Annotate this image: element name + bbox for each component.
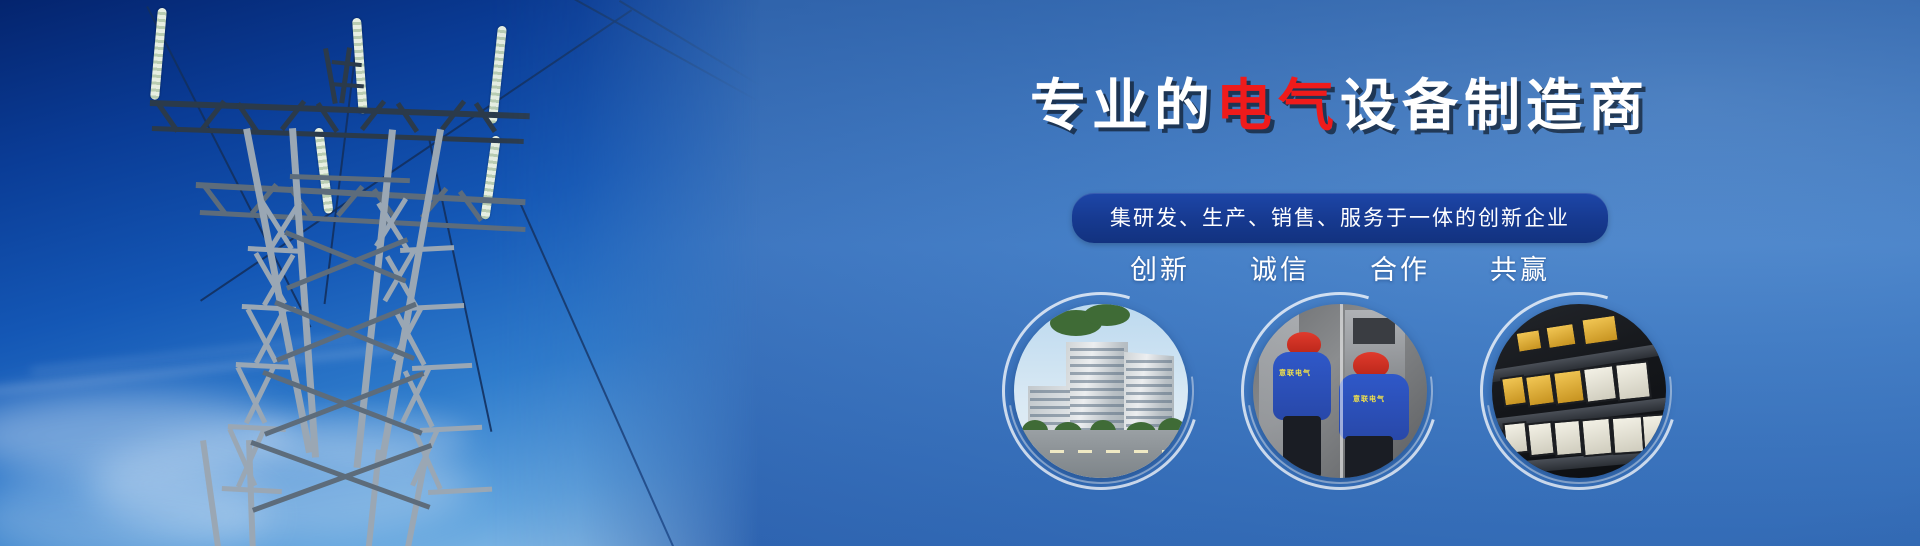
office-building-image: [1014, 304, 1188, 478]
page-title: 专业的电气设备制造商: [760, 78, 1920, 134]
technicians-image: 意联电气 意联电气: [1253, 304, 1427, 478]
photo-circle-technicians[interactable]: 意联电气 意联电气: [1253, 304, 1427, 478]
transmission-tower-photo: [0, 0, 760, 546]
photo-circle-list: 意联电气 意联电气: [760, 304, 1920, 478]
keyword-item-3: 合作: [1370, 248, 1430, 287]
photo-circle-office-building[interactable]: [1014, 304, 1188, 478]
keyword-item-1: 创新: [1130, 248, 1190, 287]
headline-prefix: 专业的: [1030, 74, 1216, 137]
certificate-wall-image: [1492, 304, 1666, 478]
promo-banner: 专业的电气设备制造商 集研发、生产、销售、服务于一体的创新企业 创新 诚信 合作…: [0, 0, 1920, 546]
pylon-structure: [0, 0, 760, 546]
banner-content: 专业的电气设备制造商 集研发、生产、销售、服务于一体的创新企业 创新 诚信 合作…: [760, 0, 1920, 546]
headline-suffix: 设备制造商: [1340, 74, 1650, 137]
keyword-item-2: 诚信: [1250, 248, 1310, 287]
keyword-list: 创新 诚信 合作 共赢: [760, 248, 1920, 287]
photo-circle-certificates[interactable]: [1492, 304, 1666, 478]
headline-highlight: 电气: [1216, 74, 1340, 137]
subtitle-badge: 集研发、生产、销售、服务于一体的创新企业: [1072, 193, 1608, 243]
keyword-item-4: 共赢: [1490, 248, 1550, 287]
